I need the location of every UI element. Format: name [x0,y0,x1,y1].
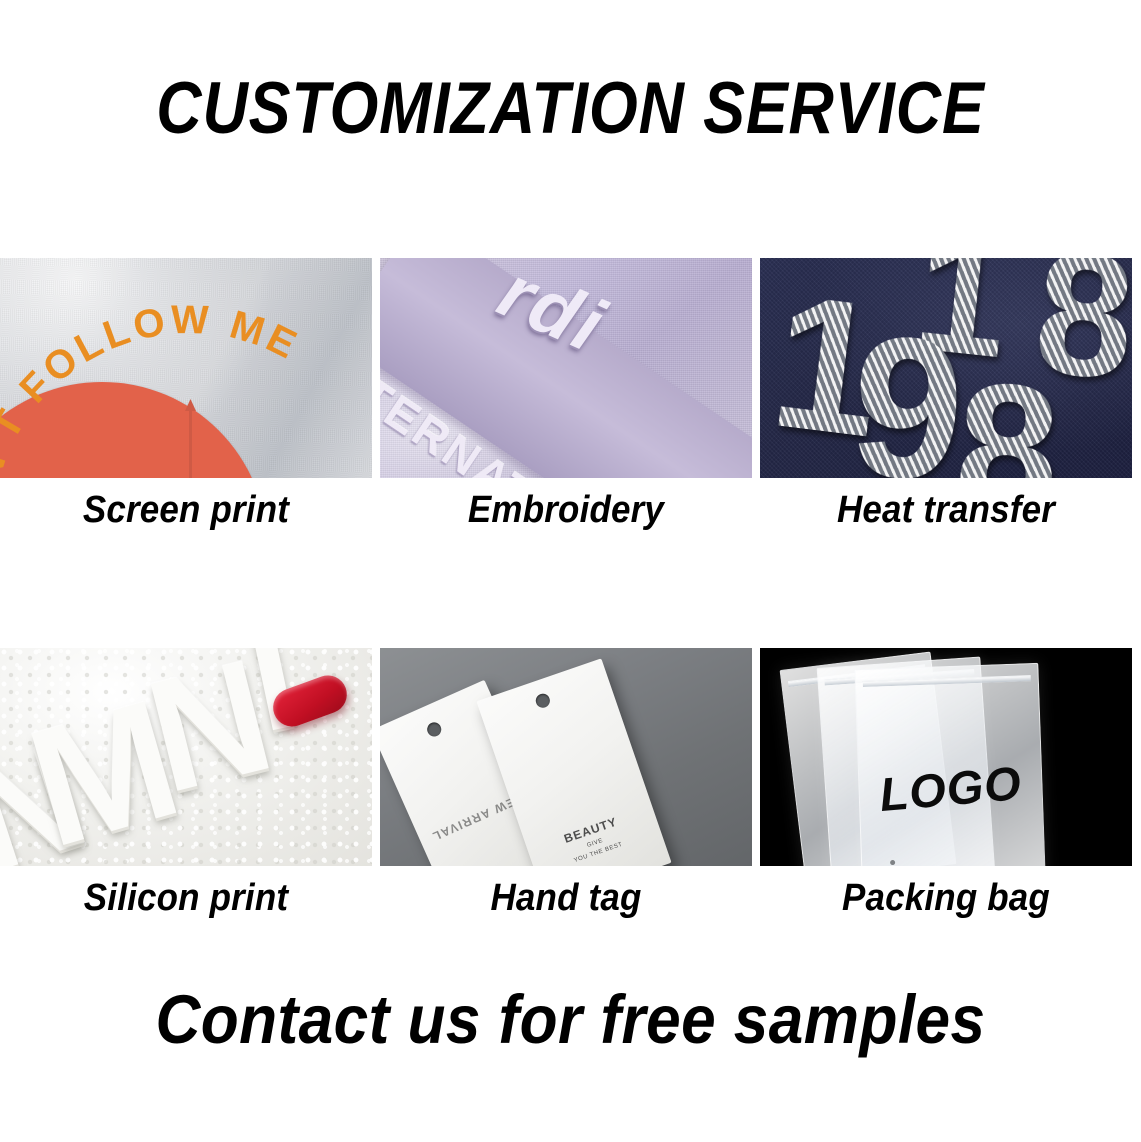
service-card-screen-print[interactable]: N'T FOLLOW ME Screen print [0,258,372,532]
hand-tag-image[interactable]: NEW ARRIVAL BEAUTY GIVE YOU THE BEST [380,648,752,866]
print-arc-text-label: N'T FOLLOW ME [0,300,306,478]
heat-glyph-nine: 9 [846,320,969,478]
caption-embroidery: Embroidery [395,489,737,532]
embroidery-image[interactable]: rdi TERNATIONA [380,258,752,478]
gallery-row: N M N I Silicon print NEW ARRIVAL BEAUTY… [0,648,1141,920]
service-gallery: N'T FOLLOW ME Screen print rdi TERNATION… [0,258,1141,920]
footer-cta-text: Contact us for free samples [57,980,1084,1059]
page-title: CUSTOMIZATION SERVICE [80,72,1061,145]
service-card-hand-tag[interactable]: NEW ARRIVAL BEAUTY GIVE YOU THE BEST Han… [380,648,752,920]
service-card-packing-bag[interactable]: LOGO Packing bag [760,648,1132,920]
zip-seal-icon [863,675,1031,687]
caption-heat-transfer: Heat transfer [775,489,1117,532]
gallery-row: N'T FOLLOW ME Screen print rdi TERNATION… [0,258,1141,532]
service-card-embroidery[interactable]: rdi TERNATIONA Embroidery [380,258,752,532]
silicon-print-image[interactable]: N M N I [0,648,372,866]
caption-hand-tag: Hand tag [395,877,737,920]
heat-glyph-eight: 8 [952,369,1063,478]
service-card-heat-transfer[interactable]: 1 8 1 9 8 Heat transfer [760,258,1132,532]
packing-bag-image[interactable]: LOGO [760,648,1132,866]
service-card-silicon-print[interactable]: N M N I Silicon print [0,648,372,920]
caption-packing-bag: Packing bag [775,877,1117,920]
screen-print-image[interactable]: N'T FOLLOW ME [0,258,372,478]
caption-screen-print: Screen print [15,489,357,532]
packing-bag-front: LOGO [854,663,1045,866]
packing-bag-logo-text: LOGO [858,753,1044,824]
print-arc-text: N'T FOLLOW ME [0,300,372,478]
caption-silicon-print: Silicon print [15,877,357,920]
svg-text:N'T FOLLOW ME: N'T FOLLOW ME [0,300,306,478]
tag-hole-icon [425,720,443,738]
air-vent-hole-icon [890,860,895,865]
heat-transfer-image[interactable]: 1 8 1 9 8 [760,258,1132,478]
tag-hole-icon [534,692,552,710]
